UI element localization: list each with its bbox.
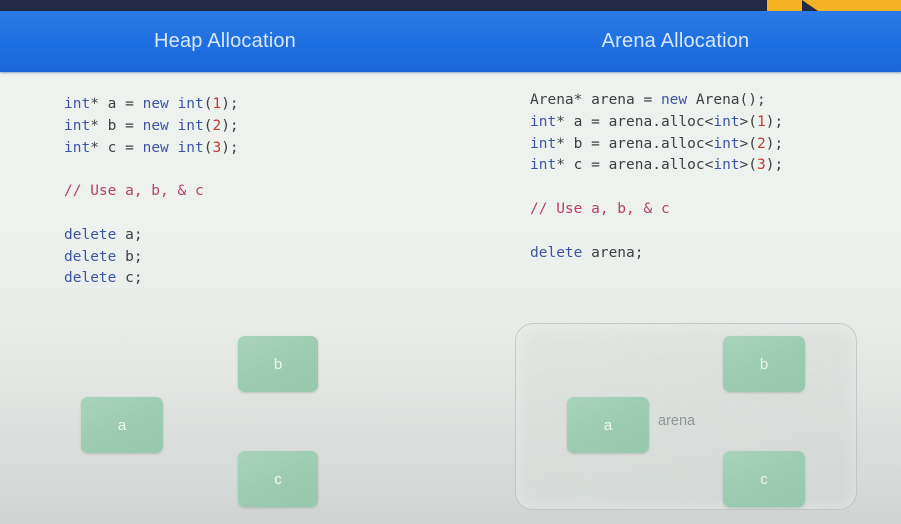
heap-code-token-num: 3 <box>212 140 221 156</box>
arena-panel-title: Arena Allocation <box>602 30 750 53</box>
heap-code-token-kw: new <box>143 96 169 112</box>
heap-code-line: delete c; <box>64 268 239 290</box>
heap-code-token-pln: ); <box>221 118 238 134</box>
arena-code-token-pln: Arena* arena = <box>530 92 661 108</box>
arena-code-token-kw: int <box>530 136 556 152</box>
arena-code-token-pln: * c = arena.alloc< <box>556 157 713 173</box>
heap-code-token-pln <box>169 140 178 156</box>
heap-panel-title: Heap Allocation <box>154 30 296 53</box>
panel-header-bar: Heap Allocation Arena Allocation <box>0 11 901 72</box>
top-accent-strip <box>0 0 901 11</box>
arena-code-token-kw: delete <box>530 245 582 261</box>
heap-code-token-kw: int <box>64 118 90 134</box>
arena-code-block: Arena* arena = new Arena();int* a = aren… <box>530 90 783 264</box>
heap-code-token-pln: * a = <box>90 96 142 112</box>
arena-code-token-kw: int <box>530 114 556 130</box>
arena-code-token-pln: Arena(); <box>687 92 766 108</box>
slide-root: Heap Allocation Arena Allocation int* a … <box>0 0 901 524</box>
heap-code-token-kw: int <box>178 118 204 134</box>
heap-code-token-kw: int <box>64 96 90 112</box>
heap-code-line: delete a; <box>64 225 239 247</box>
heap-panel-header: Heap Allocation <box>0 11 450 72</box>
arena-panel-header: Arena Allocation <box>450 11 901 72</box>
arena-code-line <box>530 177 783 199</box>
arena-code-token-kw: int <box>713 136 739 152</box>
heap-code-token-kw: delete <box>64 249 116 265</box>
heap-code-token-pln: a; <box>116 227 142 243</box>
arena-code-token-pln: * a = arena.alloc< <box>556 114 713 130</box>
arena-code-line: int* b = arena.alloc<int>(2); <box>530 134 783 156</box>
heap-code-line <box>64 203 239 225</box>
arena-code-token-kw: new <box>661 92 687 108</box>
heap-block-a: a <box>81 397 163 453</box>
arena-code-line <box>530 221 783 243</box>
arena-code-token-pln: ); <box>766 114 783 130</box>
heap-code-block: int* a = new int(1);int* b = new int(2);… <box>64 94 239 290</box>
heap-block-c: c <box>238 451 318 507</box>
heap-code-line <box>64 159 239 181</box>
heap-code-token-kw: new <box>143 118 169 134</box>
arena-code-token-pln: >( <box>740 114 757 130</box>
heap-code-token-pln: * c = <box>90 140 142 156</box>
heap-code-token-kw: int <box>178 96 204 112</box>
accent-bar <box>802 0 901 11</box>
arena-code-token-pln: * b = arena.alloc< <box>556 136 713 152</box>
heap-code-token-kw: new <box>143 140 169 156</box>
arena-code-token-kw: int <box>530 157 556 173</box>
arena-code-token-num: 3 <box>757 157 766 173</box>
arena-block-b: b <box>723 336 805 392</box>
heap-code-token-num: 2 <box>212 118 221 134</box>
arena-code-token-pln: ); <box>766 157 783 173</box>
arena-code-token-cmt: // Use a, b, & c <box>530 201 670 217</box>
accent-square-icon <box>767 0 802 11</box>
heap-code-token-pln: c; <box>116 270 142 286</box>
heap-code-token-cmt: // Use a, b, & c <box>64 183 204 199</box>
arena-code-token-pln: >( <box>740 136 757 152</box>
heap-code-token-pln <box>169 118 178 134</box>
heap-code-line: delete b; <box>64 247 239 269</box>
arena-code-token-pln: ); <box>766 136 783 152</box>
heap-code-token-kw: int <box>178 140 204 156</box>
heap-code-token-kw: delete <box>64 227 116 243</box>
heap-code-line: int* b = new int(2); <box>64 116 239 138</box>
heap-code-token-num: 1 <box>212 96 221 112</box>
heap-code-token-pln: * b = <box>90 118 142 134</box>
heap-block-b: b <box>238 336 318 392</box>
arena-code-token-kw: int <box>713 157 739 173</box>
arena-code-line: Arena* arena = new Arena(); <box>530 90 783 112</box>
arena-container-label: arena <box>658 413 695 429</box>
arena-code-token-num: 1 <box>757 114 766 130</box>
arena-code-token-kw: int <box>713 114 739 130</box>
heap-code-token-kw: int <box>64 140 90 156</box>
arena-code-token-pln: >( <box>740 157 757 173</box>
heap-code-token-pln <box>169 96 178 112</box>
arena-code-line: int* a = arena.alloc<int>(1); <box>530 112 783 134</box>
arena-block-c: c <box>723 451 805 507</box>
arena-code-token-num: 2 <box>757 136 766 152</box>
heap-code-token-pln: ); <box>221 96 238 112</box>
heap-code-line: int* a = new int(1); <box>64 94 239 116</box>
heap-code-token-pln: ); <box>221 140 238 156</box>
heap-code-token-kw: delete <box>64 270 116 286</box>
memory-diagram: abc arenaabc <box>0 300 901 524</box>
heap-code-line: // Use a, b, & c <box>64 181 239 203</box>
arena-code-line: int* c = arena.alloc<int>(3); <box>530 155 783 177</box>
arena-code-line: delete arena; <box>530 243 783 265</box>
arena-block-a: a <box>567 397 649 453</box>
arena-code-token-pln: arena; <box>582 245 643 261</box>
heap-code-token-pln: b; <box>116 249 142 265</box>
heap-code-line: int* c = new int(3); <box>64 138 239 160</box>
arena-code-line: // Use a, b, & c <box>530 199 783 221</box>
